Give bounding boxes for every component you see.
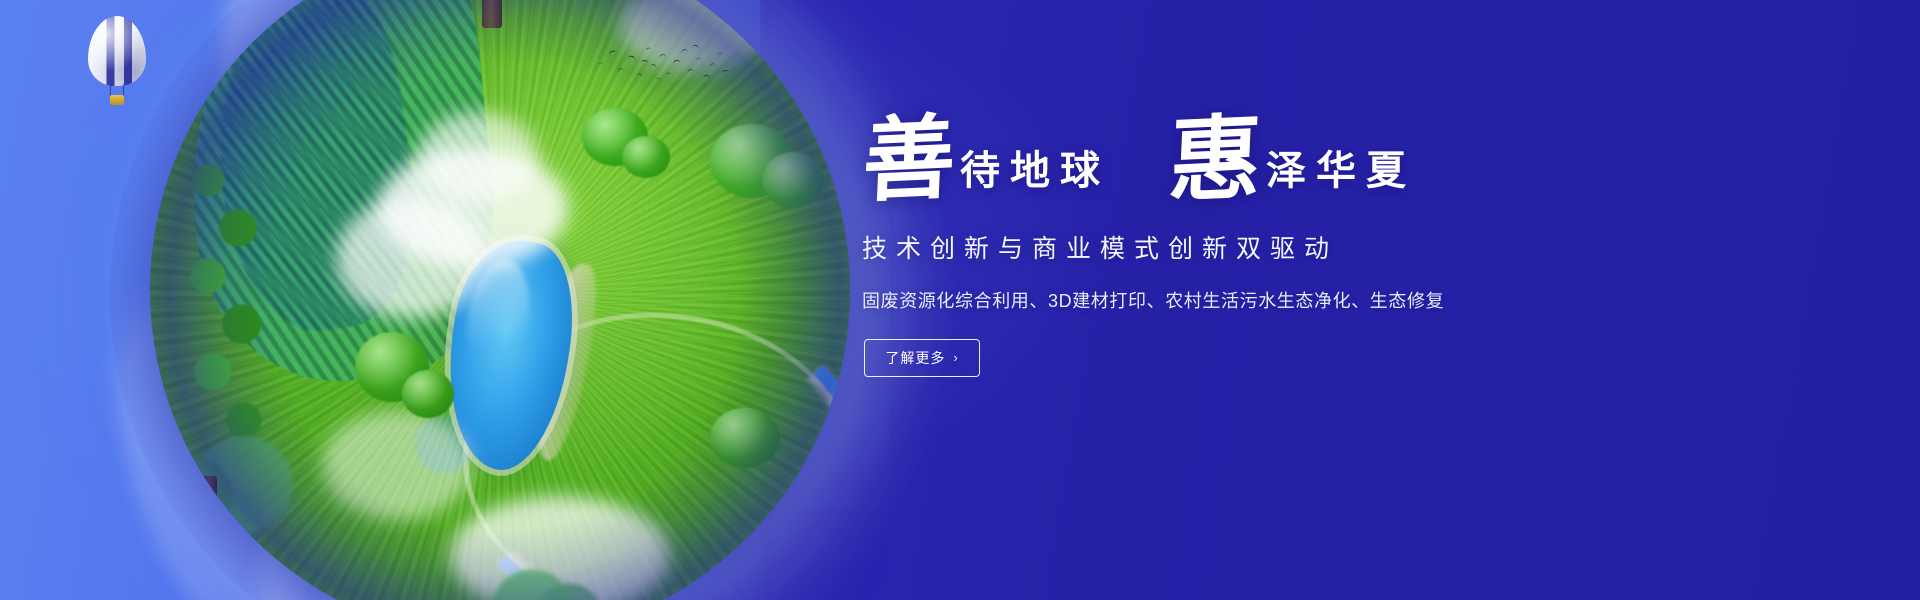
bird-icon — [672, 59, 680, 65]
globe-sphere — [150, 0, 850, 600]
page-title: 善 待地球 惠 泽华夏 — [862, 118, 1842, 203]
tree-trunk-inverted — [202, 476, 217, 580]
hero-content: 善 待地球 惠 泽华夏 技术创新与商业模式创新双驱动 固废资源化综合利用、3D建… — [862, 118, 1842, 377]
tree-trunk — [482, 0, 502, 28]
bird-icon — [636, 73, 642, 78]
bird-icon — [717, 52, 722, 55]
bush-icon — [622, 136, 670, 178]
bird-icon — [641, 60, 649, 65]
hero-description: 固废资源化综合利用、3D建材打印、农村生活污水生态净化、生态修复 — [862, 287, 1842, 313]
hero-banner: 善 待地球 惠 泽华夏 技术创新与商业模式创新双驱动 固废资源化综合利用、3D建… — [0, 0, 1920, 600]
headline-brush-char-1: 善 — [861, 116, 957, 205]
bush-icon — [402, 370, 454, 418]
learn-more-button[interactable]: 了解更多 › — [864, 339, 980, 377]
balloon-envelope — [88, 16, 146, 86]
bird-icon — [703, 75, 711, 79]
bird-icon — [608, 49, 617, 56]
headline-rest-1: 待地球 — [960, 151, 1110, 203]
bird-icon — [666, 72, 672, 76]
headline-rest-2: 泽华夏 — [1266, 151, 1416, 203]
bird-icon — [598, 62, 603, 65]
bird-icon — [659, 53, 666, 58]
chevron-right-icon: › — [953, 350, 958, 365]
learn-more-label: 了解更多 — [885, 348, 945, 368]
bird-icon — [696, 57, 701, 60]
bird-icon — [627, 55, 636, 61]
bush-icon — [710, 408, 780, 468]
hero-subtitle: 技术创新与商业模式创新双驱动 — [862, 229, 1842, 265]
bird-icon — [646, 47, 651, 51]
bird-icon — [617, 68, 623, 73]
bird-icon — [709, 63, 715, 67]
hot-air-balloon-icon — [88, 16, 146, 108]
cloud-puff — [322, 410, 472, 520]
cloud-puff — [336, 198, 486, 318]
bird-icon — [650, 63, 657, 68]
bird-icon — [656, 77, 661, 80]
bird-icon — [691, 44, 699, 50]
cloud-puff — [418, 112, 538, 202]
earth-globe-image — [150, 0, 870, 600]
bird-icon — [681, 49, 688, 54]
headline-brush-char-2: 惠 — [1167, 116, 1263, 205]
tree-small — [480, 560, 610, 600]
birds-flock-icon — [595, 42, 725, 92]
balloon-basket — [110, 95, 124, 105]
tree-canopy-inverted — [150, 426, 312, 566]
bush-icon — [762, 152, 824, 208]
bird-icon — [687, 68, 694, 73]
